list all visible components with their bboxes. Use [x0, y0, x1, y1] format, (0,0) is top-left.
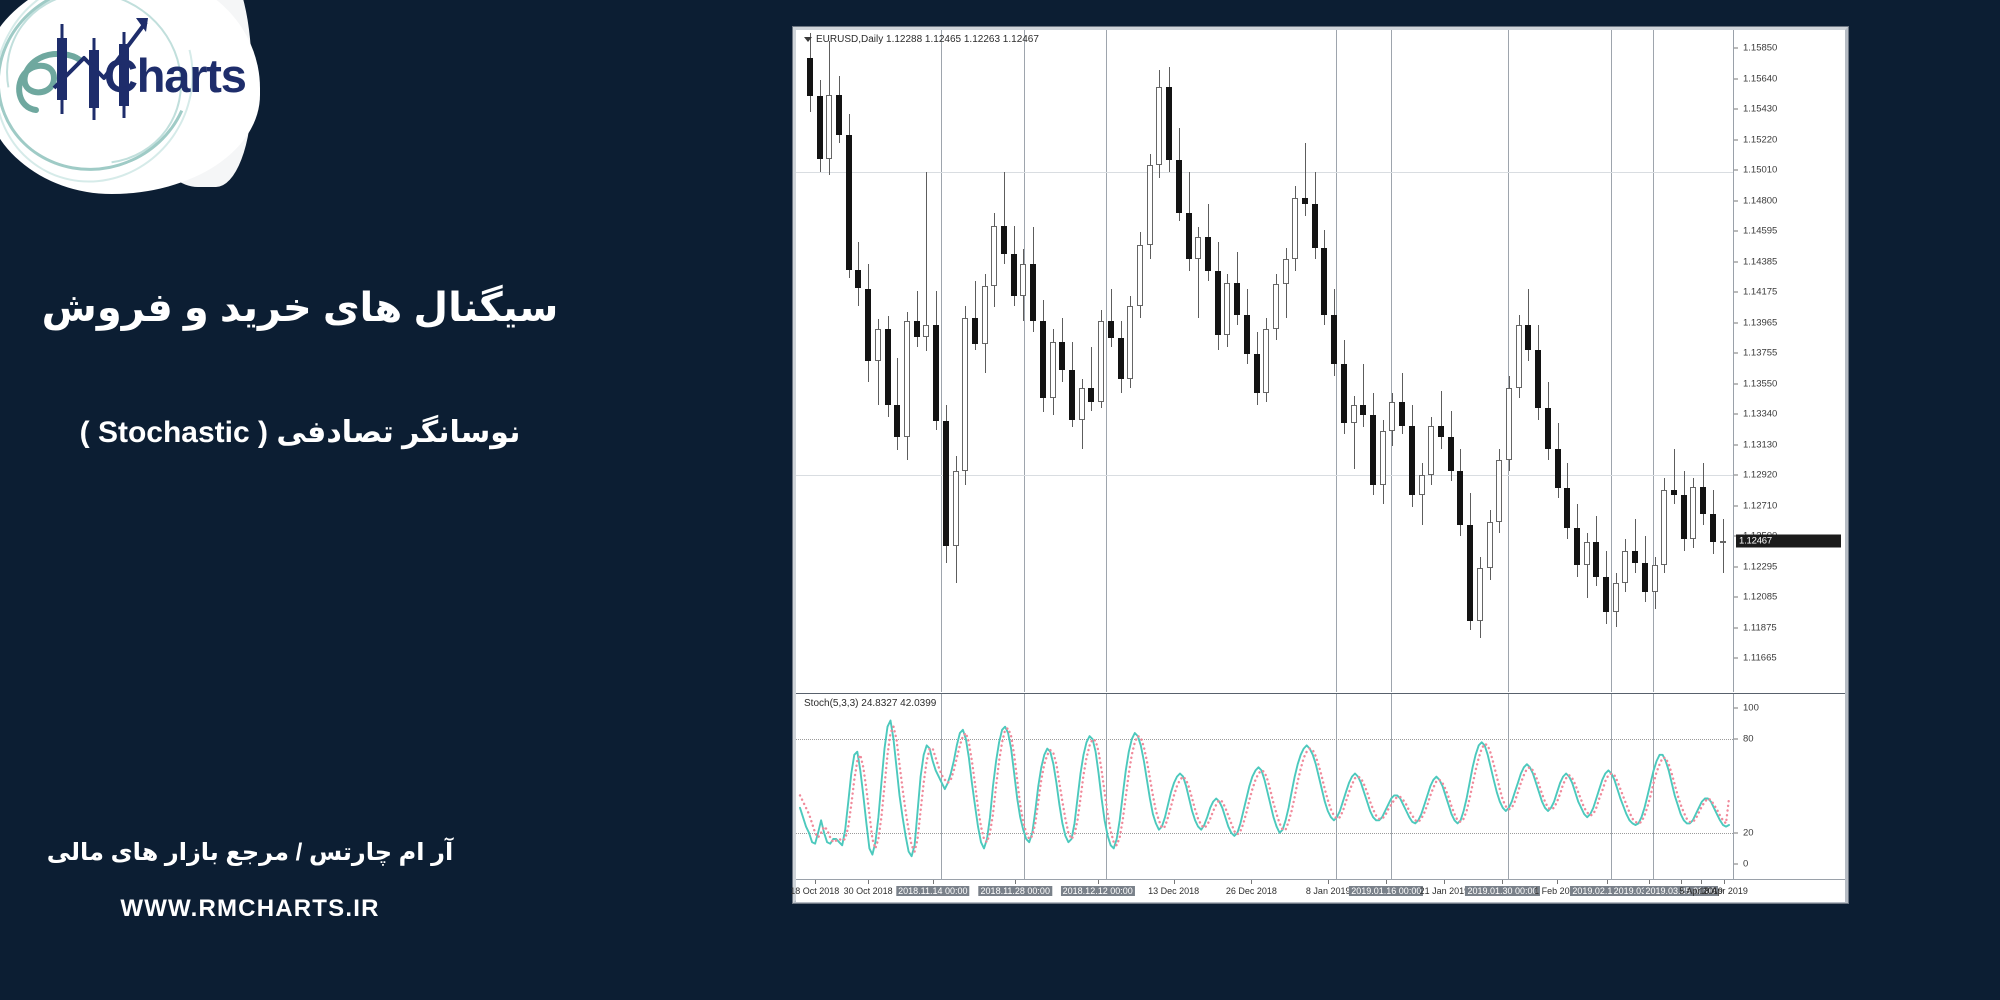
candle-body [991, 226, 997, 286]
candle-body [1011, 254, 1017, 296]
candle-body [1487, 522, 1493, 569]
candle-body [875, 329, 881, 361]
time-axis-label: 18 Oct 2018 [790, 886, 839, 896]
candle-body [1457, 471, 1463, 525]
current-price-tag: 1.12467 [1736, 535, 1841, 548]
price-y-tick [1734, 109, 1738, 110]
candle-body [1166, 87, 1172, 160]
candle-body [1467, 525, 1473, 621]
price-y-tick-label: 1.15640 [1743, 73, 1777, 84]
time-axis-tick [1251, 880, 1252, 884]
time-axis-label: 13 Dec 2018 [1148, 886, 1199, 896]
price-y-tick-label: 1.13130 [1743, 439, 1777, 450]
price-pane[interactable]: 1.158501.156401.154301.152201.150101.148… [796, 30, 1845, 692]
time-axis-tick [1681, 880, 1682, 884]
candle-body [1613, 583, 1619, 612]
price-y-tick-label: 1.12295 [1743, 561, 1777, 572]
price-y-tick-label: 1.15430 [1743, 104, 1777, 115]
candle-body [923, 325, 929, 337]
price-y-tick [1734, 414, 1738, 415]
candle-body [914, 321, 920, 337]
candle-body [1622, 551, 1628, 583]
candle-body [1215, 271, 1221, 335]
candle-body [1118, 338, 1124, 379]
candle-body [1254, 354, 1260, 393]
candle-body [1399, 402, 1405, 425]
candle-body [904, 321, 910, 438]
collapse-caret-icon[interactable] [804, 37, 812, 42]
time-axis-tick [1174, 880, 1175, 884]
candle-body [1321, 248, 1327, 315]
time-axis-tick [1607, 880, 1608, 884]
candle-body [1088, 388, 1094, 403]
candle-body [1710, 514, 1716, 542]
time-axis[interactable]: 18 Oct 201830 Oct 20182018.11.14 00:0020… [796, 879, 1845, 902]
candle-body [1292, 198, 1298, 259]
candle-body [1040, 321, 1046, 398]
time-axis-tick [1649, 880, 1650, 884]
price-y-tick [1734, 231, 1738, 232]
candle-body [1069, 370, 1075, 420]
candle-body [1603, 577, 1609, 612]
price-y-tick-label: 1.12085 [1743, 592, 1777, 603]
stochastic-y-tick-label: 100 [1743, 703, 1759, 714]
chart-window[interactable]: 1.158501.156401.154301.152201.150101.148… [793, 27, 1848, 903]
time-axis-tick [1701, 880, 1702, 884]
candle-body [1001, 226, 1007, 254]
price-y-tick [1734, 78, 1738, 79]
candle-body [1720, 541, 1726, 543]
price-y-tick-label: 1.15220 [1743, 134, 1777, 145]
candle-wick [1635, 519, 1636, 573]
candle-body [1389, 402, 1395, 431]
candle-body [1176, 160, 1182, 212]
candle-body [807, 58, 813, 96]
candle-wick [1111, 289, 1112, 347]
candle-body [1661, 490, 1667, 566]
footer-tagline: آر ام چارتس / مرجع بازار های مالی [0, 838, 500, 867]
candle-body [1156, 87, 1162, 164]
candle-body [1535, 350, 1541, 408]
candle-wick [1723, 519, 1724, 573]
candle-body [1137, 245, 1143, 306]
candle-body [1205, 237, 1211, 271]
candle-body [865, 289, 871, 362]
time-axis-label: 2019.01.30 00:00 [1465, 886, 1539, 896]
time-axis-tick [1015, 880, 1016, 884]
vertical-gridline [1508, 30, 1509, 692]
candle-body [1642, 563, 1648, 592]
candle-body [826, 95, 832, 159]
price-y-tick-label: 1.13755 [1743, 348, 1777, 359]
candle-body [836, 95, 842, 136]
time-axis-tick [1557, 880, 1558, 884]
time-axis-label: 2018.11.14 00:00 [896, 886, 969, 896]
price-y-tick [1734, 170, 1738, 171]
price-y-tick [1734, 139, 1738, 140]
candle-body [1506, 388, 1512, 461]
candle-wick [1441, 391, 1442, 449]
price-y-tick [1734, 627, 1738, 628]
candle-body [1409, 426, 1415, 496]
page-subtitle: نوسانگر تصادفی ( Stochastic ) [0, 415, 600, 450]
candle-body [1593, 542, 1599, 577]
candle-body [1690, 487, 1696, 539]
price-y-tick [1734, 200, 1738, 201]
price-y-tick [1734, 48, 1738, 49]
candle-body [1496, 460, 1502, 521]
candle-body [1263, 329, 1269, 393]
time-axis-tick [933, 880, 934, 884]
price-y-tick-label: 1.11665 [1743, 653, 1777, 664]
candle-body [1079, 388, 1085, 420]
horizontal-gridline [796, 172, 1733, 173]
price-y-tick [1734, 658, 1738, 659]
vertical-gridline [1024, 30, 1025, 692]
candle-body [1030, 264, 1036, 321]
price-y-axis[interactable]: 1.158501.156401.154301.152201.150101.148… [1733, 30, 1845, 692]
candle-body [1273, 284, 1279, 329]
candle-body [1545, 408, 1551, 449]
price-y-tick-label: 1.14175 [1743, 287, 1777, 298]
candle-body [1050, 342, 1056, 397]
stochastic-indicator-label: Stoch(5,3,3) 24.8327 42.0399 [804, 698, 936, 709]
time-axis-label: 26 Dec 2018 [1226, 886, 1277, 896]
price-y-tick-label: 1.13340 [1743, 409, 1777, 420]
price-y-tick-label: 1.13550 [1743, 378, 1777, 389]
candle-body [962, 318, 968, 471]
price-y-tick [1734, 322, 1738, 323]
candle-body [943, 421, 949, 546]
price-y-tick [1734, 353, 1738, 354]
time-axis-tick [1386, 880, 1387, 884]
candle-body [1370, 415, 1376, 485]
candle-body [953, 471, 959, 547]
candle-body [1020, 264, 1026, 296]
candle-body [1244, 315, 1250, 354]
time-axis-label: 18 Apr 2019 [1699, 886, 1748, 896]
price-y-tick [1734, 261, 1738, 262]
stochastic-y-tick-label: 80 [1743, 734, 1754, 745]
stochastic-y-axis[interactable]: 10080200 [1733, 694, 1845, 879]
candle-body [1234, 283, 1240, 315]
candle-body [1428, 426, 1434, 476]
stochastic-y-tick-label: 20 [1743, 827, 1754, 838]
candle-body [1419, 475, 1425, 495]
candle-body [1632, 551, 1638, 563]
candle-body [855, 270, 861, 289]
candle-body [1574, 528, 1580, 566]
time-axis-label: 2018.12.12 00:00 [1061, 886, 1135, 896]
candle-body [933, 325, 939, 421]
time-axis-tick [1724, 880, 1725, 884]
candle-body [1283, 259, 1289, 284]
time-axis-label: 2019.01.16 00:00 [1349, 886, 1423, 896]
vertical-gridline [1391, 30, 1392, 692]
candle-body [1555, 449, 1561, 488]
price-y-tick [1734, 505, 1738, 506]
stochastic-plot-area[interactable] [796, 694, 1733, 879]
candle-body [1331, 315, 1337, 365]
price-plot-area[interactable] [796, 30, 1733, 692]
candle-body [1448, 437, 1454, 471]
candle-body [1652, 565, 1658, 591]
price-y-tick [1734, 444, 1738, 445]
price-y-tick [1734, 566, 1738, 567]
candle-body [1584, 542, 1590, 565]
price-y-tick [1734, 597, 1738, 598]
price-y-tick [1734, 292, 1738, 293]
time-axis-tick [815, 880, 816, 884]
candle-body [1681, 495, 1687, 539]
candle-body [1341, 364, 1347, 422]
candle-body [894, 405, 900, 437]
candle-body [1700, 487, 1706, 515]
horizontal-gridline [796, 475, 1733, 476]
price-y-tick [1734, 475, 1738, 476]
stochastic-y-tick-label: 0 [1743, 859, 1748, 870]
stochastic-series-svg [796, 694, 1733, 879]
logo-wordmark: Charts [104, 48, 246, 103]
price-y-tick-label: 1.14800 [1743, 195, 1777, 206]
candle-body [1195, 237, 1201, 259]
brand-logo: Charts [0, 0, 268, 202]
stochastic-d-line [800, 727, 1729, 852]
candle-body [1525, 325, 1531, 350]
candle-body [817, 96, 823, 159]
candle-body [1351, 405, 1357, 422]
price-y-tick-label: 1.14385 [1743, 256, 1777, 267]
price-y-tick-label: 1.14595 [1743, 226, 1777, 237]
stochastic-y-tick [1734, 832, 1738, 833]
candle-body [1108, 321, 1114, 338]
vertical-gridline [1106, 30, 1107, 692]
time-axis-label: 21 Jan 2019 [1420, 886, 1470, 896]
candle-body [1224, 283, 1230, 335]
candle-body [1147, 165, 1153, 245]
candle-body [1302, 198, 1308, 204]
price-y-tick-label: 1.15010 [1743, 165, 1777, 176]
candle-body [972, 318, 978, 344]
price-y-tick-label: 1.13965 [1743, 317, 1777, 328]
symbol-quote-label: EURUSD,Daily 1.12288 1.12465 1.12263 1.1… [804, 34, 1039, 45]
time-axis-tick [1328, 880, 1329, 884]
price-y-tick-label: 1.11875 [1743, 622, 1777, 633]
candle-body [1438, 426, 1444, 438]
candle-body [1360, 405, 1366, 415]
stochastic-pane[interactable]: 10080200 Stoch(5,3,3) 24.8327 42.0399 [796, 693, 1845, 879]
page-title: سیگنال های خرید و فروش [0, 285, 600, 331]
price-y-tick-label: 1.12710 [1743, 500, 1777, 511]
candle-body [1380, 431, 1386, 485]
time-axis-label: 30 Oct 2018 [844, 886, 893, 896]
price-y-tick-label: 1.12920 [1743, 470, 1777, 481]
time-axis-tick [868, 880, 869, 884]
candle-body [1127, 306, 1133, 379]
candle-body [1516, 325, 1522, 388]
candle-body [846, 135, 852, 269]
candle-body [885, 329, 891, 405]
candle-body [1059, 342, 1065, 370]
candle-wick [917, 291, 918, 346]
candle-body [1564, 488, 1570, 527]
time-axis-label: 2018.11.28 00:00 [979, 886, 1052, 896]
stochastic-y-tick [1734, 739, 1738, 740]
candle-body [1098, 321, 1104, 403]
price-y-tick-label: 1.15850 [1743, 43, 1777, 54]
time-axis-label: 8 Jan 2019 [1306, 886, 1351, 896]
stochastic-y-tick [1734, 864, 1738, 865]
stochastic-y-tick [1734, 708, 1738, 709]
candle-body [1671, 490, 1677, 496]
candle-body [1312, 204, 1318, 248]
candle-body [1186, 213, 1192, 260]
time-axis-tick [1444, 880, 1445, 884]
candle-body [1477, 568, 1483, 620]
candle-body [982, 286, 988, 344]
candle-wick [1363, 364, 1364, 427]
candle-wick [1674, 449, 1675, 504]
stochastic-k-line [800, 721, 1729, 857]
time-axis-tick [1502, 880, 1503, 884]
vertical-gridline [941, 30, 942, 692]
footer-website-url: WWW.RMCHARTS.IR [0, 895, 500, 923]
time-axis-tick [1098, 880, 1099, 884]
price-y-tick [1734, 383, 1738, 384]
candle-wick [1305, 143, 1306, 216]
